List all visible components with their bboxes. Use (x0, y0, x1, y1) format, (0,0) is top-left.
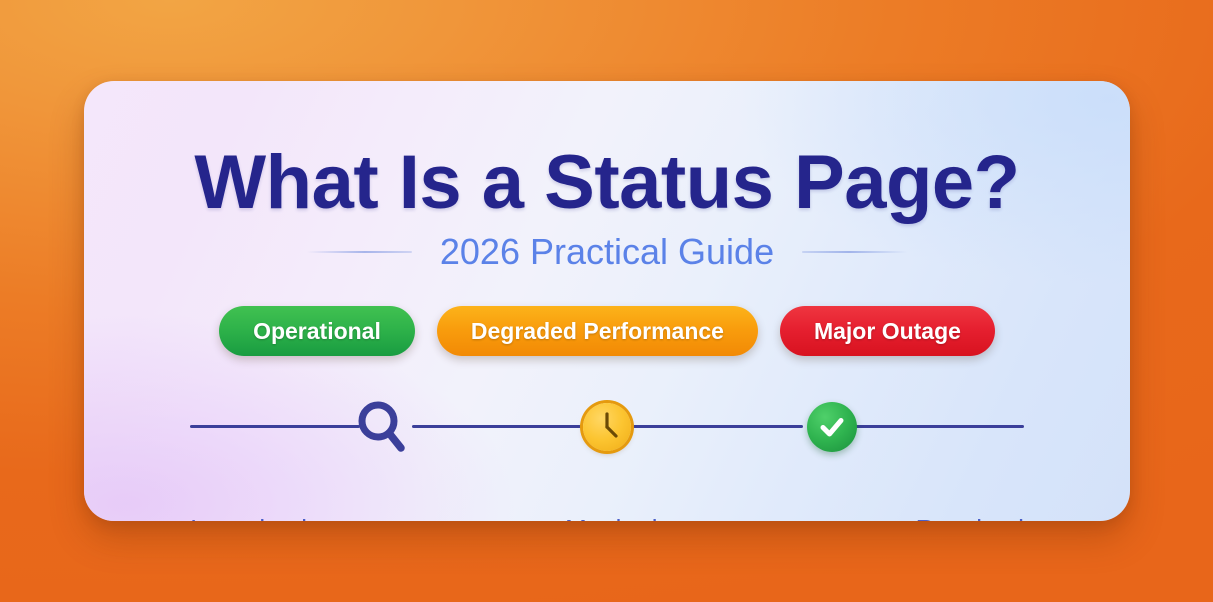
timeline-labels: Investigating Monitoring Resolved (190, 511, 1024, 521)
timeline-nodes (190, 394, 1024, 460)
timeline-trail-spacer (865, 394, 1024, 460)
status-badge-group: Operational Degraded Performance Major O… (84, 306, 1130, 356)
page-subtitle: 2026 Practical Guide (440, 231, 774, 273)
subtitle-rule-right (802, 251, 907, 253)
timeline-mid-spacer-1 (415, 394, 574, 460)
status-badge-major-outage[interactable]: Major Outage (780, 306, 995, 356)
timeline-mid-spacer-2 (640, 394, 799, 460)
timeline-node-monitoring[interactable] (574, 394, 640, 460)
poster-canvas: What Is a Status Page? 2026 Practical Gu… (0, 0, 1213, 602)
magnifier-icon (354, 398, 410, 456)
page-title: What Is a Status Page? (84, 139, 1130, 226)
status-badge-degraded-performance[interactable]: Degraded Performance (437, 306, 758, 356)
timeline-label-investigating: Investigating (190, 514, 336, 522)
check-circle-icon (807, 402, 857, 452)
timeline-label-resolved: Resolved (916, 514, 1024, 522)
subtitle-row: 2026 Practical Guide (84, 231, 1130, 273)
timeline-lead-spacer (190, 394, 349, 460)
clock-icon (583, 403, 631, 451)
incident-timeline (190, 394, 1024, 494)
timeline-node-resolved[interactable] (799, 394, 865, 460)
status-badge-operational[interactable]: Operational (219, 306, 415, 356)
subtitle-rule-left (307, 251, 412, 253)
timeline-node-investigating[interactable] (349, 394, 415, 460)
status-page-card: What Is a Status Page? 2026 Practical Gu… (84, 81, 1130, 521)
timeline-label-monitoring: Monitoring (565, 514, 686, 522)
